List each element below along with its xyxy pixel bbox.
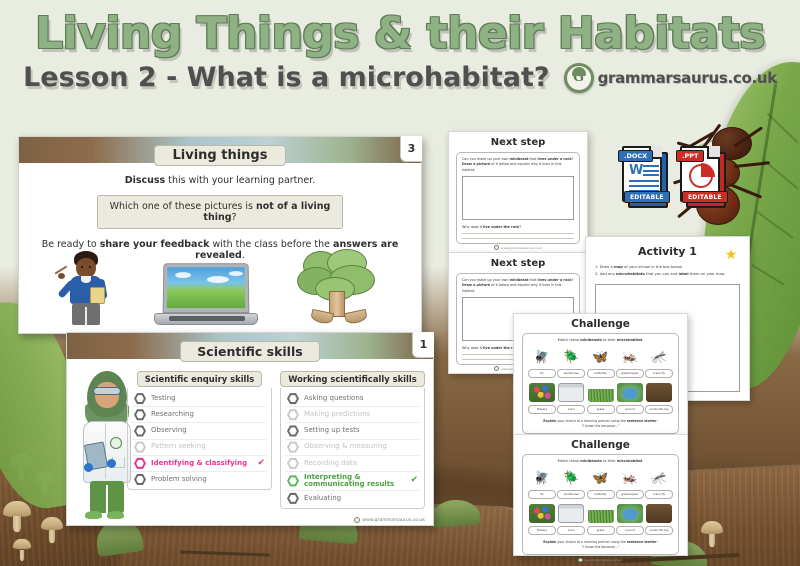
skill-item[interactable]: Asking questions <box>285 391 420 407</box>
habitat-cell[interactable]: grass <box>587 382 615 414</box>
enquiry-skills-heading: Scientific enquiry skills <box>137 371 263 387</box>
step2-b: microhabitats <box>616 272 645 276</box>
question-box: Which one of these pictures is not of a … <box>97 195 343 229</box>
logo-badge-icon <box>494 366 499 371</box>
challenge-title: Challenge <box>514 318 687 330</box>
minibeast-label: butterfly <box>587 490 615 499</box>
skill-item[interactable]: Observing <box>132 423 267 439</box>
docx-extension-label: .DOCX <box>618 150 653 162</box>
habitat-image <box>645 503 673 524</box>
habitat-cell[interactable]: a bin <box>557 382 585 414</box>
habitat-image <box>645 382 673 403</box>
challenge-instruction: Match these minibeasts to their microhab… <box>528 338 673 342</box>
habitat-label: under the log <box>645 405 673 414</box>
minibeast-label: fly <box>528 369 556 378</box>
footer-url: www.grammarsaurus.co.uk <box>585 558 623 562</box>
skill-item[interactable]: Identifying & classifying✔ <box>132 456 267 472</box>
working-scientifically-heading: Working scientifically skills <box>280 371 425 387</box>
skill-item[interactable]: Pattern seeking <box>132 440 267 456</box>
working-scientifically-column: Working scientifically skills Asking que… <box>280 369 425 509</box>
logo-badge-icon <box>494 245 499 250</box>
brand-logo: G grammarsaurus.co.uk <box>564 63 777 93</box>
slide-title: Scientific skills <box>180 341 319 362</box>
skill-label: Pattern seeking <box>151 443 206 450</box>
skill-label: Problem solving <box>151 476 207 483</box>
skill-hex-icon <box>134 441 146 453</box>
boy-pointing-icon[interactable] <box>57 251 115 325</box>
mushroom-icon <box>700 520 724 548</box>
challenge-explain: Explain your choice to a learning partne… <box>528 540 673 550</box>
skill-label: Testing <box>151 395 176 402</box>
ppt-editable-label: EDITABLE <box>682 191 728 203</box>
habitat-image <box>528 382 556 403</box>
step2-d: label <box>679 272 689 276</box>
minibeast-label: fly <box>528 490 556 499</box>
tree-icon[interactable] <box>297 249 383 325</box>
habitat-label: flowers <box>528 405 556 414</box>
skill-hex-icon <box>287 457 299 469</box>
skill-label: Recording data <box>304 460 357 467</box>
check-icon: ✔ <box>257 459 265 468</box>
minibeast-label: crane fly <box>645 490 673 499</box>
logo-badge-icon <box>354 517 360 523</box>
docx-editable-label: EDITABLE <box>624 191 670 203</box>
habitat-label: a bin <box>557 526 585 535</box>
footer-url: www.grammarsaurus.co.uk <box>362 518 425 523</box>
minibeast-row: 🪰fly🪲woodlouse🦋butterfly🦗grasshopper🦟cra… <box>528 467 673 499</box>
worksheet-instruction-2: Draw a picture of it below and explain w… <box>462 162 574 173</box>
slide-living-things[interactable]: 3 Living things Discuss this with your l… <box>18 136 422 334</box>
skill-item[interactable]: Evaluating <box>285 491 420 506</box>
habitat-label: a pond <box>616 526 644 535</box>
minibeast-image: 🦗 <box>616 346 644 367</box>
minibeast-image: 🦋 <box>587 346 615 367</box>
habitat-label: grass <box>587 405 615 414</box>
footer-url: www.grammarsaurus.co.uk <box>501 246 542 250</box>
leaf-icon <box>572 67 586 76</box>
activity-step-1: 1. Draw a map of your school in the box … <box>595 264 740 271</box>
skill-label: Observing & measuring <box>304 443 387 450</box>
skill-item[interactable]: Problem solving <box>132 472 267 487</box>
minibeast-cell[interactable]: 🪰fly <box>528 346 556 378</box>
logo-text: grammarsaurus.co.uk <box>598 69 777 87</box>
habitat-label: grass <box>587 526 615 535</box>
habitat-label: a bin <box>557 405 585 414</box>
challenge-card[interactable]: ChallengeMatch these minibeasts to their… <box>513 434 688 556</box>
habitat-image <box>616 382 644 403</box>
logo-badge-icon: G <box>564 63 594 93</box>
doc-lines-icon <box>643 165 659 179</box>
habitat-row: flowersa bingrassa pondunder the log <box>528 382 673 414</box>
answer-line[interactable] <box>462 238 574 239</box>
skill-hex-icon <box>134 409 146 421</box>
habitat-image <box>587 503 615 524</box>
challenge-body: Match these minibeasts to their microhab… <box>522 333 679 434</box>
challenge-footer: www.grammarsaurus.co.uk <box>514 558 687 563</box>
habitat-image <box>587 382 615 403</box>
step1-c: of your school in the box below. <box>623 265 683 269</box>
habitat-label: a pond <box>616 405 644 414</box>
slide-title-wrap: Scientific skills <box>75 341 425 362</box>
challenge-body: Match these minibeasts to their microhab… <box>522 454 679 555</box>
skill-item[interactable]: Interpreting & communicating results✔ <box>285 472 420 491</box>
challenge-instruction: Match these minibeasts to their microhab… <box>528 459 673 463</box>
step2-e: them on your map. <box>689 272 726 276</box>
skill-hex-icon <box>134 425 146 437</box>
minibeast-label: grasshopper <box>616 490 644 499</box>
file-format-badges: W .DOCX EDITABLE .PPT EDITABLE <box>622 146 726 208</box>
skill-item[interactable]: Making predictions <box>285 407 420 423</box>
challenge-title: Challenge <box>514 439 687 451</box>
poster-root: Living Things & their Habitats Lesson 2 … <box>0 0 800 566</box>
worksheet-drawing-box[interactable] <box>462 176 574 220</box>
habitat-cell[interactable]: under the log <box>645 503 673 535</box>
lesson-subtitle: Lesson 2 - What is a microhabitat? <box>23 62 549 93</box>
minibeast-label: crane fly <box>645 369 673 378</box>
skill-hex-icon <box>134 457 146 469</box>
skill-label: Identifying & classifying <box>151 460 247 467</box>
habitat-cell[interactable]: flowers <box>528 503 556 535</box>
worksheet-next-step[interactable]: Next stepCan you make up your own minibe… <box>448 131 588 253</box>
habitat-cell[interactable]: flowers <box>528 382 556 414</box>
challenge-card[interactable]: ChallengeMatch these minibeasts to their… <box>513 313 688 435</box>
laptop-icon[interactable] <box>154 263 258 325</box>
minibeast-cell[interactable]: 🪲woodlouse <box>557 346 585 378</box>
skill-hex-icon <box>287 492 299 504</box>
mushroom-icon <box>40 516 64 544</box>
check-icon: ✔ <box>410 476 418 485</box>
worksheet-footer: www.grammarsaurus.co.uk <box>449 245 587 250</box>
skill-label: Researching <box>151 411 194 418</box>
skill-label: Asking questions <box>304 395 363 402</box>
docx-badge[interactable]: W .DOCX EDITABLE <box>622 146 668 208</box>
minibeast-image: 🪲 <box>557 346 585 367</box>
minibeast-label: woodlouse <box>557 369 585 378</box>
habitat-image <box>528 503 556 524</box>
minibeast-image: 🦟 <box>645 346 673 367</box>
minibeast-cell[interactable]: 🦋butterfly <box>587 467 615 499</box>
skill-hex-icon <box>287 393 299 405</box>
word-w-icon: W <box>629 164 643 177</box>
minibeast-label: woodlouse <box>557 490 585 499</box>
minibeast-image: 🪲 <box>557 467 585 488</box>
skill-hex-icon <box>134 474 146 486</box>
step2-c: that you can and <box>645 272 679 276</box>
skill-hex-icon <box>287 409 299 421</box>
picture-row <box>37 249 403 325</box>
step2-a: 2. Add any <box>595 272 616 276</box>
worksheet-question: Why does it live under the rock? <box>462 225 574 229</box>
skill-hex-icon <box>287 425 299 437</box>
habitat-cell[interactable]: under the log <box>645 382 673 414</box>
discuss-line: Discuss this with your learning partner. <box>27 175 413 186</box>
habitat-image <box>557 503 585 524</box>
minibeast-cell[interactable]: 🪲woodlouse <box>557 467 585 499</box>
slide-footer-logo: www.grammarsaurus.co.uk <box>354 517 425 523</box>
habitat-cell[interactable]: a pond <box>616 503 644 535</box>
skill-label: Setting up tests <box>304 427 359 434</box>
minibeast-cell[interactable]: 🦋butterfly <box>587 346 615 378</box>
minibeast-cell[interactable]: 🪰fly <box>528 467 556 499</box>
step1-a: 1. Draw a <box>595 265 614 269</box>
skill-label: Interpreting & communicating results <box>304 474 405 489</box>
minibeast-row: 🪰fly🪲woodlouse🦋butterfly🦗grasshopper🦟cra… <box>528 346 673 378</box>
scientist-illustration <box>81 371 133 521</box>
enquiry-skills-column: Scientific enquiry skills TestingResearc… <box>127 369 272 509</box>
habitat-label: under the log <box>645 526 673 535</box>
minibeast-label: grasshopper <box>616 369 644 378</box>
habitat-image <box>557 382 585 403</box>
star-icon: ★ <box>724 247 738 261</box>
skill-hex-icon <box>287 441 299 453</box>
skill-label: Evaluating <box>304 495 341 502</box>
poster-header: Living Things & their Habitats Lesson 2 … <box>0 0 800 93</box>
skill-item[interactable]: Observing & measuring <box>285 440 420 456</box>
slide-title-wrap: Living things <box>27 145 413 166</box>
minibeast-cell[interactable]: 🦗grasshopper <box>616 467 644 499</box>
habitat-image <box>616 503 644 524</box>
minibeast-label: butterfly <box>587 369 615 378</box>
question-post: ? <box>232 212 237 223</box>
ppt-extension-label: .PPT <box>676 150 704 162</box>
page-title: Living Things & their Habitats <box>0 0 800 60</box>
discuss-rest: this with your learning partner. <box>165 175 315 186</box>
activity-step-2: 2. Add any microhabitats that you can an… <box>595 271 740 278</box>
skill-label: Making predictions <box>304 411 370 418</box>
habitat-row: flowersa bingrassa pondunder the log <box>528 503 673 535</box>
habitat-cell[interactable]: grass <box>587 503 615 535</box>
minibeast-image: 🦋 <box>587 467 615 488</box>
pie-chart-icon <box>689 164 713 188</box>
worksheet-instruction-2: Draw a picture of it below and explain w… <box>462 283 574 294</box>
enquiry-skills-list: TestingResearchingObservingPattern seeki… <box>127 388 272 490</box>
habitat-cell[interactable]: a bin <box>557 503 585 535</box>
skill-label: Observing <box>151 427 187 434</box>
challenge-explain: Explain your choice to a learning partne… <box>528 419 673 429</box>
worksheet-body: Can you make up your own minibeast that … <box>456 152 580 244</box>
mushroom-icon <box>2 500 32 534</box>
skill-item[interactable]: Researching <box>132 407 267 423</box>
mushroom-icon <box>12 538 32 562</box>
skill-hex-icon <box>287 475 299 487</box>
habitat-cell[interactable]: a pond <box>616 382 644 414</box>
logo-badge-icon <box>578 558 583 563</box>
slide-scientific-skills[interactable]: 1 Scientific skills Scientific enquiry s… <box>66 332 434 526</box>
minibeast-cell[interactable]: 🦗grasshopper <box>616 346 644 378</box>
worksheet-title: Next step <box>449 258 587 269</box>
skill-hex-icon <box>134 393 146 405</box>
minibeast-cell[interactable]: 🦟crane fly <box>645 346 673 378</box>
skill-item[interactable]: Testing <box>132 391 267 407</box>
skill-item[interactable]: Recording data <box>285 456 420 472</box>
worksheet-title: Next step <box>449 137 587 148</box>
question-pre: Which one of these pictures is <box>110 201 256 212</box>
ppt-badge[interactable]: .PPT EDITABLE <box>680 146 726 208</box>
slide-title: Living things <box>154 145 287 166</box>
answer-line[interactable] <box>462 233 574 234</box>
activity-steps: 1. Draw a map of your school in the box … <box>595 264 740 279</box>
minibeast-cell[interactable]: 🦟crane fly <box>645 467 673 499</box>
minibeast-image: 🦗 <box>616 467 644 488</box>
skill-item[interactable]: Setting up tests <box>285 423 420 439</box>
minibeast-image: 🦟 <box>645 467 673 488</box>
working-scientifically-list: Asking questionsMaking predictionsSettin… <box>280 388 425 509</box>
minibeast-image: 🪰 <box>528 467 556 488</box>
habitat-label: flowers <box>528 526 556 535</box>
step1-b: map <box>614 265 623 269</box>
discuss-bold: Discuss <box>125 175 166 186</box>
minibeast-image: 🪰 <box>528 346 556 367</box>
